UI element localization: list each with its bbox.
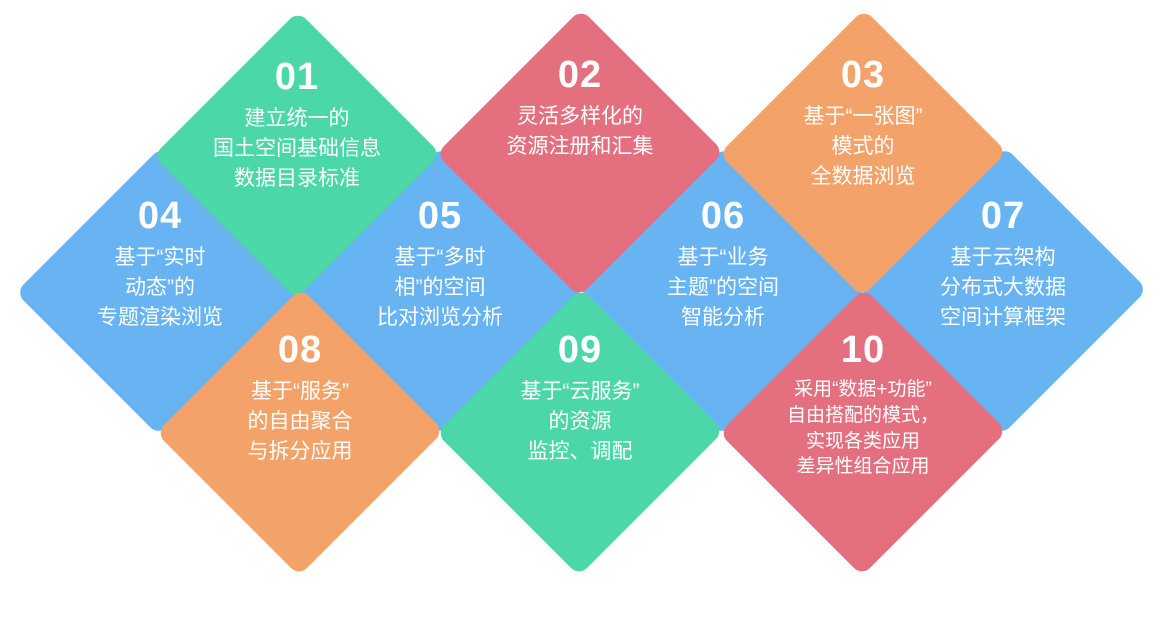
diamond-shape-10 [719,288,1007,576]
diamond-shape-03 [719,9,1007,297]
diamond-card-01[interactable]: 01 建立统一的 国土空间基础信息 数据目录标准 [154,10,440,300]
diamond-card-03[interactable]: 03 基于“一张图” 模式的 全数据浏览 [720,8,1006,298]
diamond-card-08[interactable]: 08 基于“服务” 的自由聚合 与拆分应用 [157,287,443,577]
diamond-shape-02 [436,9,724,297]
diamond-card-09[interactable]: 09 基于“云服务” 的资源 监控、调配 [437,287,723,577]
diamond-shape-08 [156,288,444,576]
diamond-shape-09 [436,288,724,576]
diamond-card-10[interactable]: 10 采用“数据+功能” 自由搭配的模式， 实现各类应用 差异性组合应用 [720,287,1006,577]
diamond-shape-01 [153,11,441,299]
diamond-card-02[interactable]: 02 灵活多样化的 资源注册和汇集 [437,8,723,298]
diagram-canvas: 01 建立统一的 国土空间基础信息 数据目录标准 02 灵活多样化的 资源注册和… [0,0,1161,582]
